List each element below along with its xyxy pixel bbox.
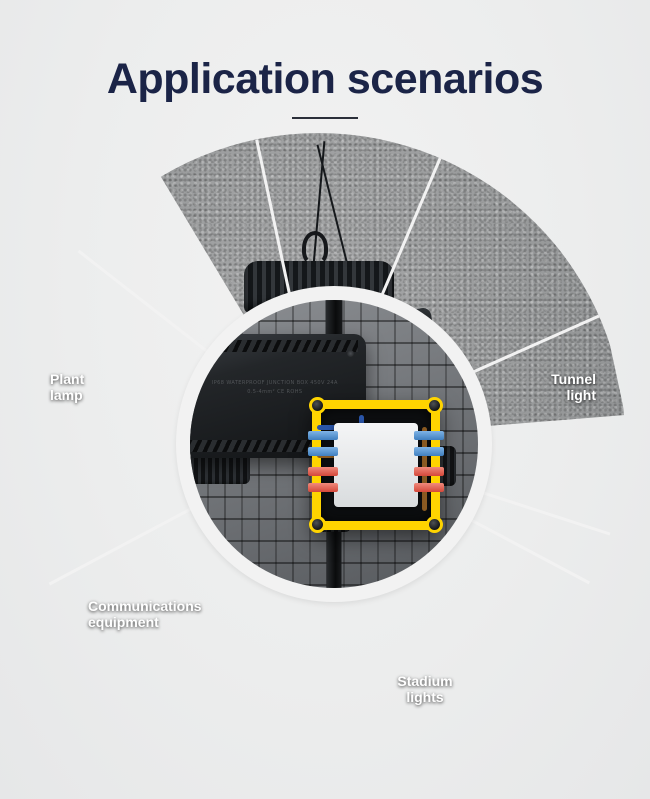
lid-screw <box>192 350 199 357</box>
label-stadium-lights: Stadium lights <box>370 673 480 705</box>
blue-lever <box>308 431 338 440</box>
lever-connector-block <box>334 423 418 507</box>
label-plant-lamp: Plant lamp <box>50 371 84 403</box>
page-header: Application scenarios <box>0 0 650 130</box>
mounting-lug <box>309 397 326 414</box>
mounting-lug <box>309 516 326 533</box>
title-underline <box>292 117 358 119</box>
label-tunnel-light: Tunnel light <box>488 371 596 403</box>
lid-marking-text: IP68 WATERPROOF JUNCTION BOX 450V 24A 0.… <box>210 379 340 397</box>
blue-lever <box>308 447 338 456</box>
junction-box-base <box>312 400 440 530</box>
blue-lever <box>414 431 444 440</box>
red-lever <box>414 483 444 492</box>
blue-lever <box>414 447 444 456</box>
red-lever <box>308 483 338 492</box>
mounting-lug <box>426 397 443 414</box>
red-lever <box>308 467 338 476</box>
mounting-lug <box>426 516 443 533</box>
red-lever <box>414 467 444 476</box>
lid-screw <box>347 350 354 357</box>
hook-icon <box>302 231 328 265</box>
label-communications-equipment: Communications equipment <box>88 598 202 630</box>
page-title: Application scenarios <box>107 58 543 101</box>
center-product-image[interactable]: IP68 WATERPROOF JUNCTION BOX 450V 24A 0.… <box>190 300 478 588</box>
